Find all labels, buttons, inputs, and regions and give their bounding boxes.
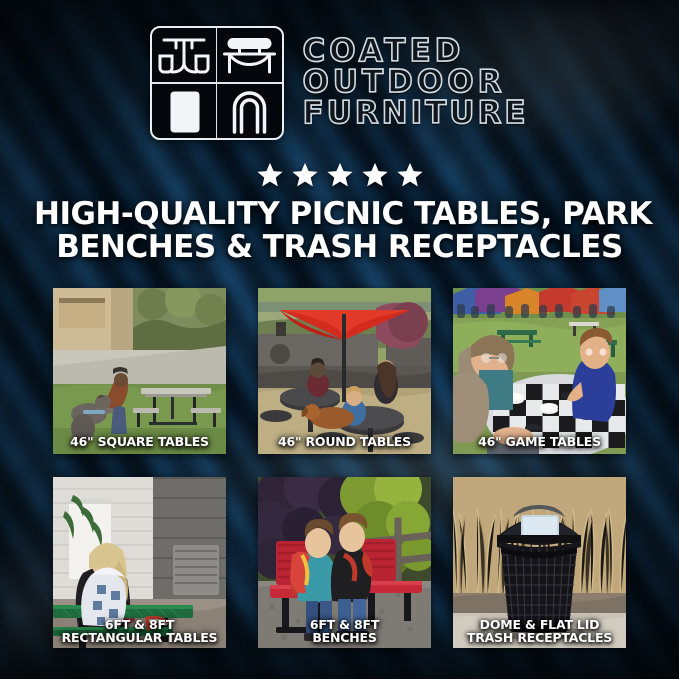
product-tile-trash-receptacles[interactable]: DOME & FLAT LID TRASH RECEPTACLES <box>453 477 626 648</box>
star-icon <box>396 161 424 189</box>
star-icon <box>361 161 389 189</box>
product-tile-square-tables[interactable]: 46" SQUARE TABLES <box>53 288 226 454</box>
trash-receptacle-icon <box>152 83 217 138</box>
product-caption: 46" ROUND TABLES <box>261 435 428 448</box>
product-photo-square-tables <box>53 288 226 454</box>
headline: HIGH-QUALITY PICNIC TABLES, PARK BENCHES… <box>34 198 645 264</box>
product-banner: COATED OUTDOOR FURNITURE HIGH-QUALITY PI… <box>0 0 679 679</box>
wordmark-line-2: OUTDOOR <box>302 68 505 98</box>
brand-logo: COATED OUTDOOR FURNITURE <box>0 24 679 142</box>
bike-rack-icon <box>217 83 282 138</box>
wordmark-line-3: FURNITURE <box>302 99 528 129</box>
logo-icon-grid <box>150 26 284 140</box>
headline-line-1: HIGH-QUALITY PICNIC TABLES, PARK <box>34 198 645 231</box>
product-grid: 46" SQUARE TABLES <box>53 288 626 648</box>
star-icon <box>291 161 319 189</box>
wordmark-line-1: COATED <box>302 37 464 67</box>
product-photo-round-tables <box>258 288 431 454</box>
product-caption: 46" SQUARE TABLES <box>56 435 223 448</box>
product-photo-game-tables <box>453 288 626 454</box>
star-rating <box>0 158 679 192</box>
star-icon <box>326 161 354 189</box>
picnic-table-icon <box>152 28 217 83</box>
product-tile-benches[interactable]: 6FT & 8FT BENCHES <box>258 477 431 648</box>
product-caption: 46" GAME TABLES <box>456 435 623 448</box>
product-tile-rectangular-tables[interactable]: 6FT & 8FT RECTANGULAR TABLES <box>53 477 226 648</box>
park-bench-icon <box>217 28 282 83</box>
product-caption: 6FT & 8FT RECTANGULAR TABLES <box>56 618 223 644</box>
star-icon <box>256 161 284 189</box>
product-tile-round-tables[interactable]: 46" ROUND TABLES <box>258 288 431 454</box>
headline-line-2: BENCHES & TRASH RECEPTACLES <box>34 231 645 264</box>
brand-wordmark: COATED OUTDOOR FURNITURE <box>302 37 528 128</box>
product-tile-game-tables[interactable]: 46" GAME TABLES <box>453 288 626 454</box>
product-caption: DOME & FLAT LID TRASH RECEPTACLES <box>456 618 623 644</box>
product-caption: 6FT & 8FT BENCHES <box>261 618 428 644</box>
